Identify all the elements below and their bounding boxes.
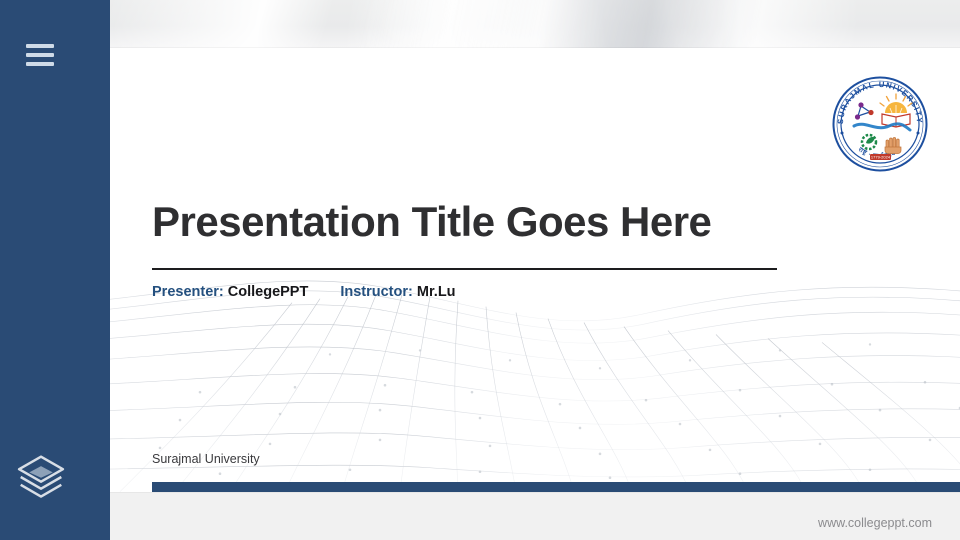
title-divider xyxy=(152,268,777,270)
slide-footer-text: Surajmal University xyxy=(152,452,260,466)
presenter-label: Presenter: xyxy=(152,284,224,300)
instructor-label: Instructor: xyxy=(340,284,413,300)
menu-bar-3 xyxy=(26,62,54,66)
top-background-artwork xyxy=(110,0,960,48)
left-sidebar xyxy=(0,0,110,540)
presentation-slide[interactable]: SURAJMAL UNIVERSITY राष्ट्रं · कार्यसाधि… xyxy=(80,48,960,492)
instructor-value: Mr.Lu xyxy=(417,284,456,300)
layers-stack-icon[interactable] xyxy=(16,452,66,502)
menu-bar-2 xyxy=(26,53,54,57)
surajmal-university-seal: SURAJMAL UNIVERSITY राष्ट्रं · कार्यसाधि… xyxy=(830,74,930,174)
site-url: www.collegeppt.com xyxy=(818,516,932,530)
credits-row: Presenter: CollegePPT Instructor: Mr.Lu xyxy=(152,284,810,300)
hamburger-menu-icon[interactable] xyxy=(26,44,54,66)
page-title: Presentation Title Goes Here xyxy=(152,198,810,246)
title-block: Presentation Title Goes Here Presenter: … xyxy=(152,198,810,300)
presenter-value: CollegePPT xyxy=(228,284,309,300)
slide-accent-bar xyxy=(152,482,960,492)
instructor-credit: Instructor: Mr.Lu xyxy=(340,284,455,300)
seal-year-text: 1779-2024 xyxy=(871,155,891,160)
presenter-credit: Presenter: CollegePPT xyxy=(152,284,308,300)
menu-bar-1 xyxy=(26,44,54,48)
